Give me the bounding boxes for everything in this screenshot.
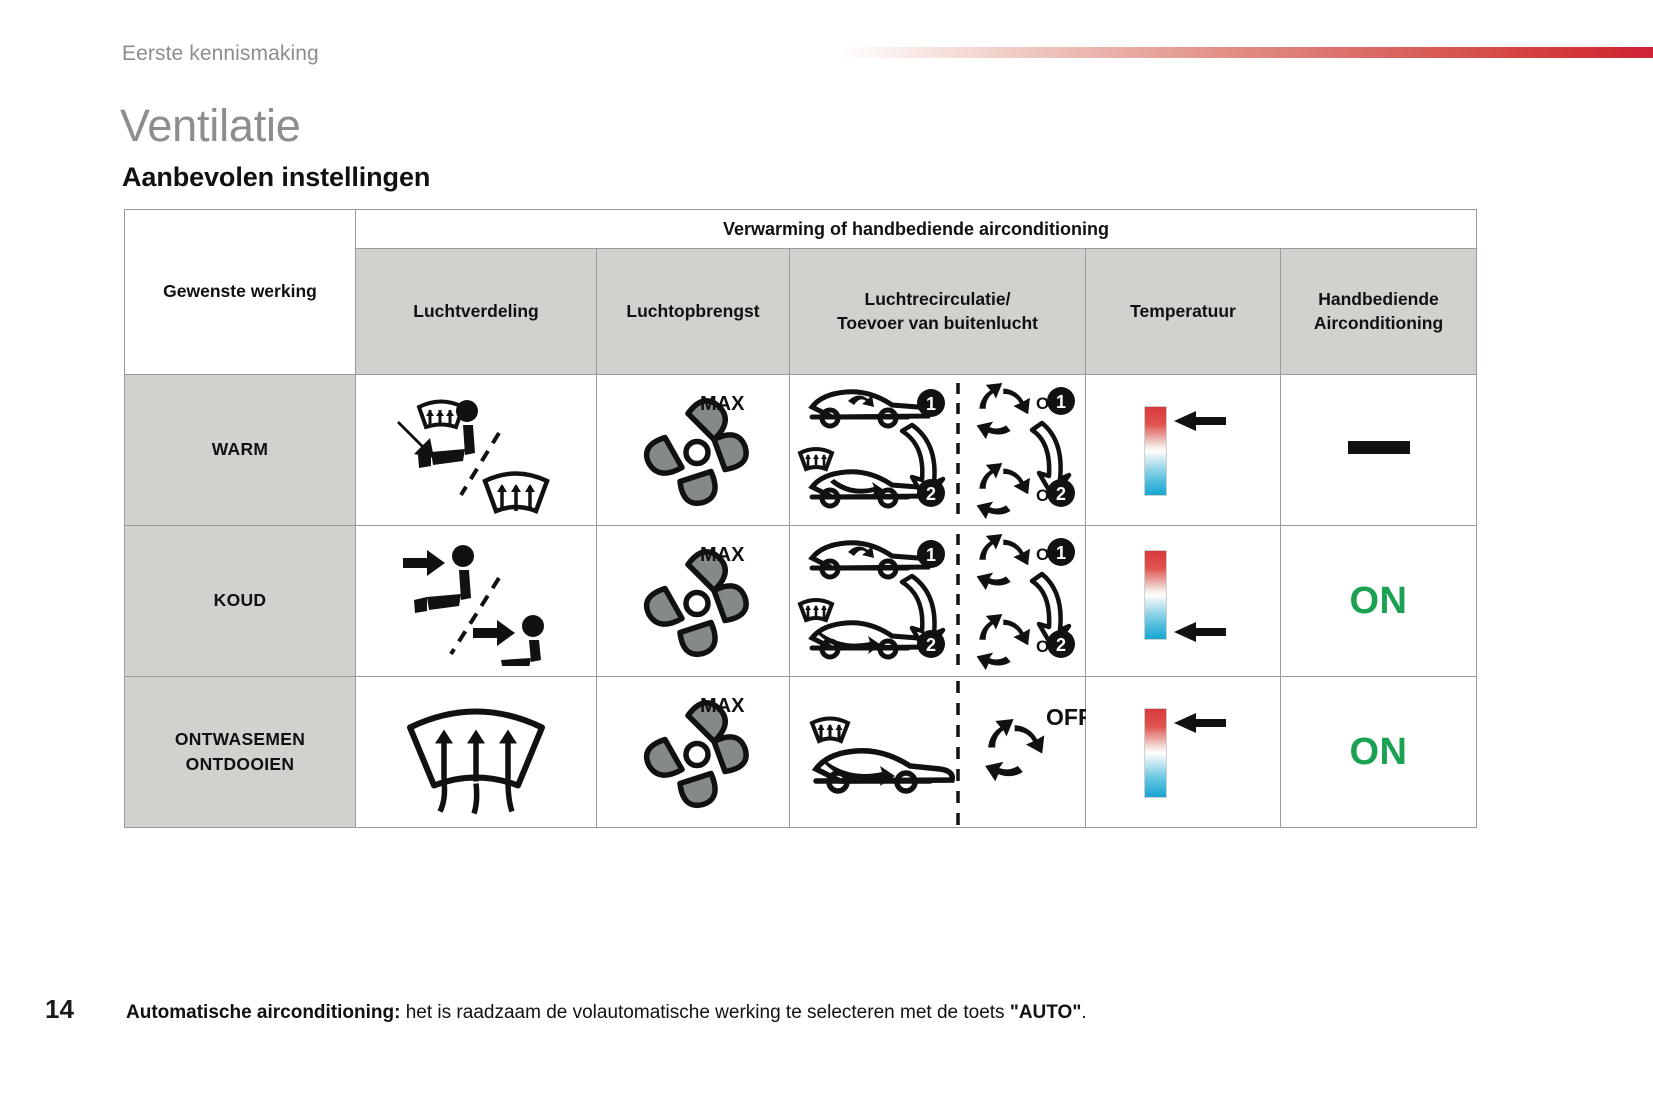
fan-max-label: MAX bbox=[700, 695, 744, 718]
recirc-step-1-label: 1 bbox=[926, 394, 936, 414]
cell-ontwasemen-luchtopbrengst: MAX bbox=[597, 677, 790, 828]
group-header-cell: Verwarming of handbediende airconditioni… bbox=[356, 210, 1477, 249]
airflow-feet-and-windscreen-icon bbox=[381, 385, 571, 515]
airflow-face-and-body-icon bbox=[381, 536, 571, 666]
fan-max-label: MAX bbox=[700, 544, 744, 567]
cell-warm-temperatuur bbox=[1086, 375, 1281, 526]
cell-koud-handbediende-airconditioning: ON bbox=[1281, 526, 1477, 677]
svg-text:1: 1 bbox=[926, 545, 936, 565]
col-header-handbediende-airconditioning: Handbediende Airconditioning bbox=[1281, 249, 1477, 375]
row-label-ontwasemen-ontdooien: ONTWASEMEN ONTDOOIEN bbox=[125, 677, 356, 828]
ac-state-dash-icon bbox=[1348, 441, 1410, 454]
cell-koud-temperatuur bbox=[1086, 526, 1281, 677]
header-accent-rule bbox=[838, 47, 1653, 58]
cell-koud-luchtopbrengst: MAX bbox=[597, 526, 790, 677]
temperature-gauge bbox=[1144, 406, 1167, 496]
corner-label: Gewenste werking bbox=[125, 280, 355, 304]
temperature-gauge bbox=[1144, 550, 1167, 640]
fan-max-icon bbox=[618, 539, 768, 664]
outside-air-off-icon: OFF bbox=[790, 677, 1086, 827]
table-row: WARM bbox=[125, 375, 1477, 526]
svg-text:2: 2 bbox=[1056, 635, 1066, 655]
page-subtitle: Aanbevolen instellingen bbox=[122, 162, 430, 193]
col-header-temperatuur: Temperatuur bbox=[1086, 249, 1281, 375]
svg-text:2: 2 bbox=[926, 635, 936, 655]
row-label-koud: KOUD bbox=[125, 526, 356, 677]
footer-note-tail: . bbox=[1081, 1002, 1086, 1023]
cell-ontwasemen-luchtrecirculatie: OFF bbox=[790, 677, 1086, 828]
recirc-off-label: OFF bbox=[1046, 704, 1086, 730]
recirculation-sequence-icon: 1 bbox=[790, 375, 1086, 525]
group-header-label: Verwarming of handbediende airconditioni… bbox=[356, 217, 1476, 241]
fan-max-icon bbox=[618, 690, 768, 815]
col-header-luchtrecirculatie: Luchtrecirculatie/ Toevoer van buitenluc… bbox=[790, 249, 1086, 375]
footer-note-bold: Automatische airconditioning: bbox=[126, 1002, 400, 1023]
windscreen-defrost-icon bbox=[396, 690, 556, 815]
temperature-arrow-icon bbox=[1174, 713, 1226, 733]
table-row: ONTWASEMEN ONTDOOIEN bbox=[125, 677, 1477, 828]
table-group-header-row: Gewenste werking Verwarming of handbedie… bbox=[125, 210, 1477, 249]
fan-max-icon bbox=[618, 388, 768, 513]
ac-state-label: ON bbox=[1350, 731, 1408, 773]
svg-text:1: 1 bbox=[1056, 543, 1066, 563]
col-header-luchtverdeling: Luchtverdeling bbox=[356, 249, 597, 375]
temperature-arrow-icon bbox=[1174, 411, 1226, 431]
cell-ontwasemen-luchtverdeling bbox=[356, 677, 597, 828]
recirc-step-2-label: 2 bbox=[926, 484, 936, 504]
temperature-gauge bbox=[1144, 708, 1167, 798]
cell-ontwasemen-temperatuur bbox=[1086, 677, 1281, 828]
cell-warm-luchtverdeling bbox=[356, 375, 597, 526]
col-header-luchtopbrengst: Luchtopbrengst bbox=[597, 249, 790, 375]
recommended-settings-table: Gewenste werking Verwarming of handbedie… bbox=[124, 209, 1476, 821]
page-number: 14 bbox=[45, 994, 74, 1025]
svg-text:1: 1 bbox=[1056, 392, 1066, 412]
footer-note-text: het is raadzaam de volautomatische werki… bbox=[400, 1002, 1009, 1023]
cell-warm-luchtopbrengst: MAX bbox=[597, 375, 790, 526]
svg-text:2: 2 bbox=[1056, 484, 1066, 504]
row-label-warm: WARM bbox=[125, 375, 356, 526]
footer-note: Automatische airconditioning: het is raa… bbox=[126, 1002, 1087, 1024]
cell-warm-handbediende-airconditioning bbox=[1281, 375, 1477, 526]
cell-koud-luchtverdeling bbox=[356, 526, 597, 677]
cell-warm-luchtrecirculatie: 1 bbox=[790, 375, 1086, 526]
cell-koud-luchtrecirculatie: 1 bbox=[790, 526, 1086, 677]
breadcrumb: Eerste kennismaking bbox=[122, 42, 319, 66]
ac-state-label: ON bbox=[1350, 580, 1408, 622]
footer-note-key: "AUTO" bbox=[1010, 1002, 1082, 1023]
temperature-arrow-icon bbox=[1174, 622, 1226, 642]
cell-ontwasemen-handbediende-airconditioning: ON bbox=[1281, 677, 1477, 828]
page-title: Ventilatie bbox=[120, 100, 301, 152]
table-corner-cell: Gewenste werking bbox=[125, 210, 356, 375]
table-row: KOUD bbox=[125, 526, 1477, 677]
fan-max-label: MAX bbox=[700, 393, 744, 416]
recirculation-sequence-icon: 1 bbox=[790, 526, 1086, 676]
